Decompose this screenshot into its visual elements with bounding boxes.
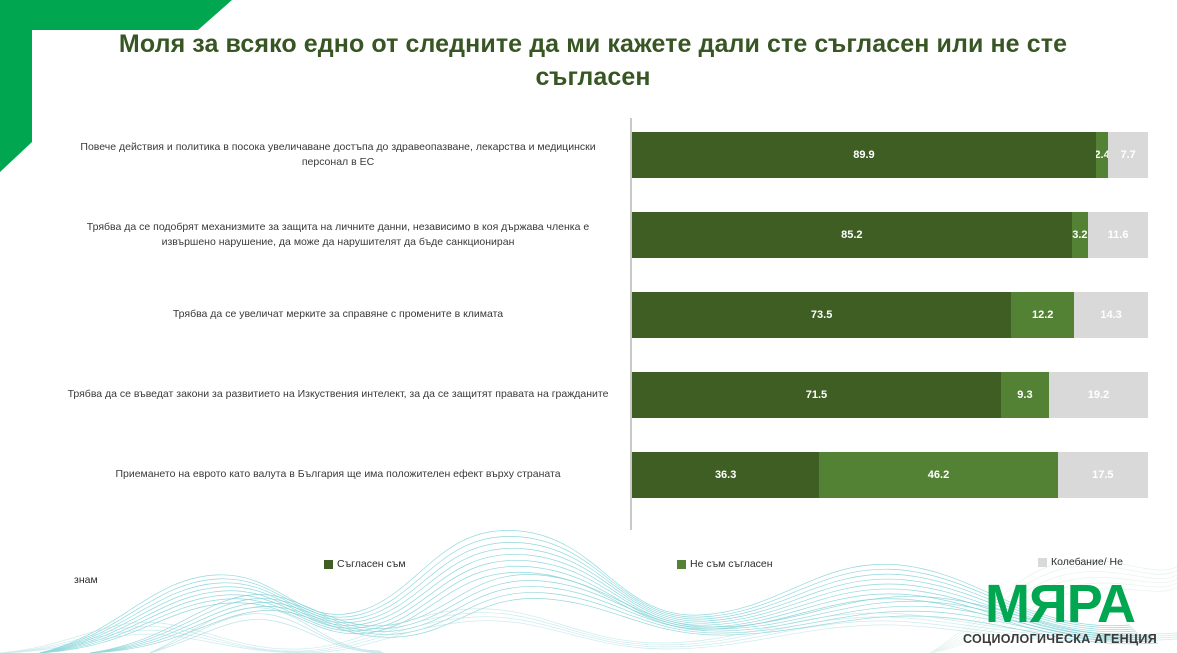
- legend-swatch-icon: [1038, 558, 1047, 567]
- bar-value-disagree: 3.2: [1072, 229, 1087, 241]
- bar-value-disagree: 2.4: [1096, 149, 1108, 161]
- bar-value-disagree: 46.2: [928, 469, 949, 481]
- bar-value-disagree: 12.2: [1032, 309, 1053, 321]
- bar-value-dontknow: 7.7: [1120, 149, 1135, 161]
- bar-value-dontknow: 19.2: [1088, 389, 1109, 401]
- stacked-bar: 71.5 9.3 19.2: [632, 372, 1148, 418]
- legend-swatch-icon: [324, 560, 333, 569]
- slide-canvas: Моля за всяко едно от следните да ми каж…: [0, 0, 1177, 653]
- category-label: Повече действия и политика в посока увел…: [62, 140, 622, 170]
- bar-value-dontknow: 14.3: [1100, 309, 1121, 321]
- stacked-bar: 85.2 3.2 11.6: [632, 212, 1148, 258]
- legend-item-disagree[interactable]: Не съм съгласен: [677, 558, 773, 570]
- logo-tagline: СОЦИОЛОГИЧЕСКА АГЕНЦИЯ: [955, 633, 1165, 646]
- bar-segment-agree[interactable]: 36.3: [632, 452, 819, 498]
- legend-item-dontknow[interactable]: Колебание/ Не: [1038, 556, 1123, 568]
- bar-segment-disagree[interactable]: 46.2: [819, 452, 1057, 498]
- bar-segment-agree[interactable]: 73.5: [632, 292, 1011, 338]
- bar-value-agree: 73.5: [811, 309, 832, 321]
- bar-segment-dontknow[interactable]: 14.3: [1074, 292, 1148, 338]
- bar-value-agree: 71.5: [806, 389, 827, 401]
- legend-label-wrapped-tail: знам: [74, 574, 98, 586]
- bar-segment-dontknow[interactable]: 17.5: [1058, 452, 1148, 498]
- stacked-bar: 89.9 2.4 7.7: [632, 132, 1148, 178]
- bar-segment-agree[interactable]: 71.5: [632, 372, 1001, 418]
- category-label: Трябва да се въведат закони за развитиет…: [62, 387, 622, 402]
- bar-segment-disagree[interactable]: 3.2: [1072, 212, 1089, 258]
- page-title: Моля за всяко едно от следните да ми каж…: [88, 28, 1098, 94]
- stacked-bar: 36.3 46.2 17.5: [632, 452, 1148, 498]
- chart-bar-rows: Повече действия и политика в посока увел…: [62, 118, 1152, 530]
- bar-value-dontknow: 11.6: [1108, 229, 1129, 241]
- legend-label: Съгласен съм: [337, 558, 406, 570]
- bar-value-agree: 36.3: [715, 469, 736, 481]
- legend-swatch-icon: [677, 560, 686, 569]
- legend-label: Колебание/ Не: [1051, 556, 1123, 568]
- category-label: Приемането на еврото като валута в Бълга…: [62, 467, 622, 482]
- legend-label: Не съм съгласен: [690, 558, 773, 570]
- table-row: Приемането на еврото като валута в Бълга…: [62, 438, 1152, 512]
- table-row: Повече действия и политика в посока увел…: [62, 118, 1152, 192]
- legend-item-agree[interactable]: Съгласен съм: [324, 558, 406, 570]
- table-row: Трябва да се подобрят механизмите за защ…: [62, 198, 1152, 272]
- table-row: Трябва да се увеличат мерките за справян…: [62, 278, 1152, 352]
- bar-segment-disagree[interactable]: 2.4: [1096, 132, 1108, 178]
- chart-plot-area: Повече действия и политика в посока увел…: [62, 118, 1152, 530]
- logo-wordmark: МЯРА: [955, 580, 1165, 630]
- bar-segment-agree[interactable]: 85.2: [632, 212, 1072, 258]
- bar-segment-disagree[interactable]: 12.2: [1011, 292, 1074, 338]
- agency-logo: МЯРА СОЦИОЛОГИЧЕСКА АГЕНЦИЯ: [955, 580, 1165, 645]
- table-row: Трябва да се въведат закони за развитиет…: [62, 358, 1152, 432]
- category-label: Трябва да се подобрят механизмите за защ…: [62, 220, 622, 250]
- bar-value-disagree: 9.3: [1017, 389, 1032, 401]
- bar-segment-dontknow[interactable]: 11.6: [1088, 212, 1148, 258]
- bar-value-agree: 89.9: [853, 149, 874, 161]
- bar-value-dontknow: 17.5: [1092, 469, 1113, 481]
- stacked-bar: 73.5 12.2 14.3: [632, 292, 1148, 338]
- bar-segment-agree[interactable]: 89.9: [632, 132, 1096, 178]
- bar-value-agree: 85.2: [841, 229, 862, 241]
- bar-segment-dontknow[interactable]: 7.7: [1108, 132, 1148, 178]
- bar-segment-disagree[interactable]: 9.3: [1001, 372, 1049, 418]
- category-label: Трябва да се увеличат мерките за справян…: [62, 307, 622, 322]
- bar-segment-dontknow[interactable]: 19.2: [1049, 372, 1148, 418]
